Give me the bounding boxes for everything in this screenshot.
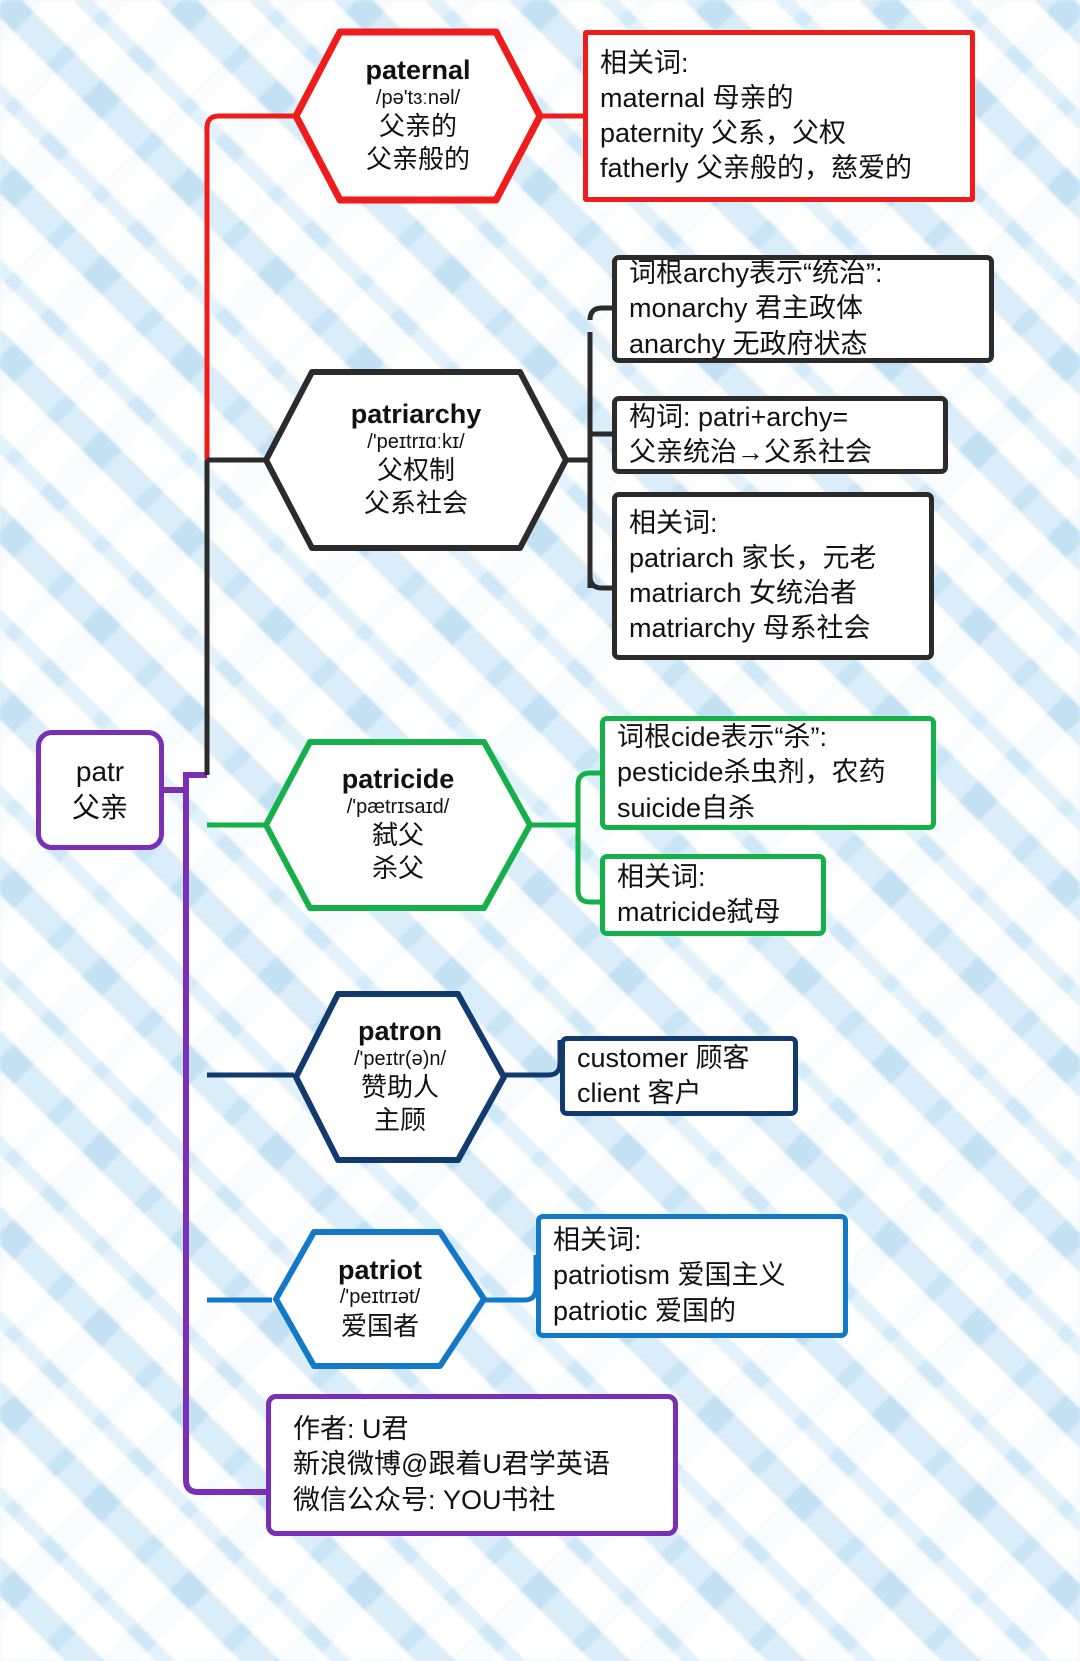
note-line: 词根cide表示“杀”: [617,720,919,755]
patriot-word: patriot [338,1255,422,1285]
note-author[interactable]: 作者: U君 新浪微博@跟着U君学英语 微信公众号: YOU书社 [266,1394,678,1536]
note-line: pesticide杀虫剂，农药 [617,755,919,790]
root-line-1: 父亲 [72,790,128,826]
patron-ipa: /'peɪtr(ə)n/ [354,1048,446,1072]
author-line: 新浪微博@跟着U君学英语 [293,1447,661,1482]
patriarchy-meaning-1: 父系社会 [364,487,468,520]
note-patriarchy-related[interactable]: 相关词: patriarch 家长，元老 matriarch 女统治者 matr… [612,492,934,660]
note-line: 相关词: [553,1223,831,1258]
node-patricide[interactable]: patricide /'pætrɪsaɪd/ 弑父 杀父 [262,738,534,912]
patricide-meaning-1: 杀父 [372,852,424,885]
edge-patron-note [502,1040,560,1075]
note-patriot-related[interactable]: 相关词: patriotism 爱国主义 patriotic 爱国的 [536,1214,848,1338]
patricide-word: patricide [342,764,455,794]
patron-meaning-1: 主顾 [374,1104,426,1137]
edge-patricide-note1 [578,773,600,785]
note-line: patriarch 家长，元老 [629,541,917,576]
paternal-meaning-1: 父亲般的 [366,143,470,176]
note-line: 词根archy表示“统治”: [629,256,977,291]
note-patriarchy-formation[interactable]: 构词: patri+archy= 父亲统治→父系社会 [612,396,948,474]
patriarchy-ipa: /'peɪtrɪɑːkɪ/ [367,431,464,455]
note-line: customer 顾客 [577,1041,781,1076]
edge-patricide-note2 [578,890,600,902]
author-line: 作者: U君 [293,1412,661,1447]
patriarchy-meaning-0: 父权制 [377,454,455,487]
note-line: patriotic 爱国的 [553,1294,831,1329]
paternal-word: paternal [365,55,470,85]
patron-word: patron [358,1016,442,1046]
note-line: maternal 母亲的 [600,81,958,116]
note-line: 相关词: [629,506,917,541]
paternal-meaning-0: 父亲的 [379,110,457,143]
note-patricide-root[interactable]: 词根cide表示“杀”: pesticide杀虫剂，农药 suicide自杀 [600,716,936,830]
node-patron[interactable]: patron /'peɪtr(ə)n/ 赞助人 主顾 [292,990,508,1164]
patriot-ipa: /'peɪtrɪət/ [340,1286,420,1310]
patricide-meaning-0: 弑父 [372,819,424,852]
root-line-0: patr [76,754,124,790]
note-line: matricide弑母 [617,895,809,930]
note-line: 父亲统治→父系社会 [629,435,931,470]
note-line: matriarch 女统治者 [629,576,917,611]
edge-patriarchy-note3 [590,576,612,588]
note-line: monarchy 君主政体 [629,291,977,326]
edge-root-trunk [162,775,207,790]
note-line: anarchy 无政府状态 [629,327,977,362]
note-line: 相关词: [600,46,958,81]
note-line: client 客户 [577,1076,781,1111]
note-paternal-related[interactable]: 相关词: maternal 母亲的 paternity 父系，父权 father… [583,30,975,202]
patricide-ipa: /'pætrɪsaɪd/ [347,796,450,820]
note-patricide-related[interactable]: 相关词: matricide弑母 [600,854,826,936]
node-patriot[interactable]: patriot /'peɪtrɪət/ 爱国者 [272,1228,488,1370]
patriarchy-word: patriarchy [351,399,482,429]
edge-patriarchy-note1 [590,308,612,320]
note-line: fatherly 父亲般的，慈爱的 [600,151,958,186]
paternal-ipa: /pə'tɜːnəl/ [376,87,460,111]
note-line: patriotism 爱国主义 [553,1258,831,1293]
edge-root-author [186,790,268,1492]
note-patriarchy-root[interactable]: 词根archy表示“统治”: monarchy 君主政体 anarchy 无政府… [612,255,994,363]
author-line: 微信公众号: YOU书社 [293,1483,661,1518]
note-line: 构词: patri+archy= [629,400,931,435]
note-line: paternity 父系，父权 [600,116,958,151]
root-node[interactable]: patr 父亲 [36,730,164,850]
note-patron-related[interactable]: customer 顾客 client 客户 [560,1036,798,1116]
note-line: matriarchy 母系社会 [629,611,917,646]
note-line: suicide自杀 [617,791,919,826]
patriot-meaning-0: 爱国者 [341,1310,419,1343]
note-line: 相关词: [617,860,809,895]
patron-meaning-0: 赞助人 [361,1071,439,1104]
node-paternal[interactable]: paternal /pə'tɜːnəl/ 父亲的 父亲般的 [292,28,544,204]
node-patriarchy[interactable]: patriarchy /'peɪtrɪɑːkɪ/ 父权制 父系社会 [262,368,570,552]
